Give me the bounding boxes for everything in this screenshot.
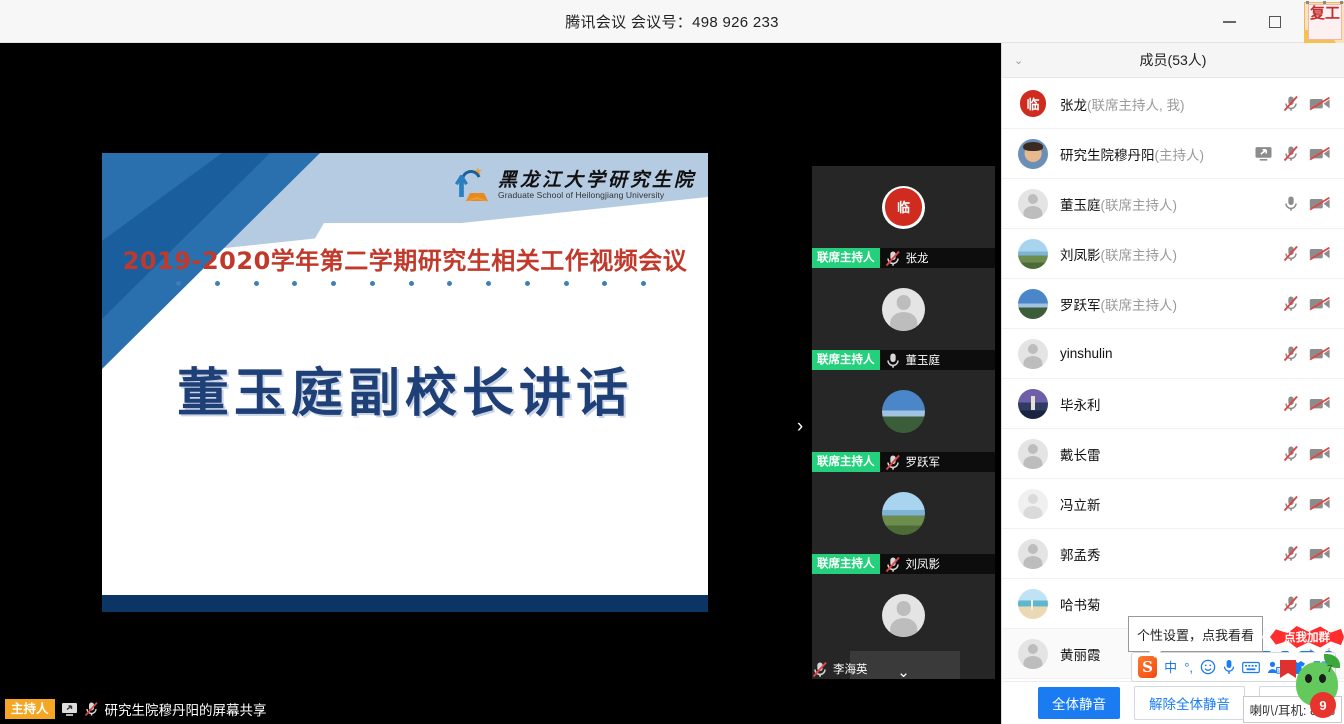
- participant-name: 张龙(联席主持人, 我): [1060, 94, 1283, 114]
- title-bar: 腾讯会议 会议号：498 926 233 ✕ 复工: [0, 0, 1344, 43]
- mascot-number: 7: [1327, 664, 1333, 675]
- avatar-landscape: [1018, 289, 1048, 319]
- mute-all-button[interactable]: 全体静音: [1038, 687, 1120, 719]
- mic-muted-icon[interactable]: [1283, 245, 1299, 262]
- minimize-icon: [1223, 21, 1236, 23]
- mic-muted-icon: [885, 454, 901, 471]
- video-tile-bar: 联席主持人刘凤影: [812, 554, 995, 574]
- avatar-seal: 临: [882, 186, 925, 229]
- participant-role: (联席主持人, 我): [1087, 98, 1185, 113]
- sogou-logo-icon[interactable]: S: [1138, 656, 1157, 678]
- mic-muted-icon: [84, 701, 99, 717]
- avatar-default: [882, 594, 925, 637]
- participant-icons: [1283, 495, 1331, 512]
- avatar-default: [1018, 339, 1048, 369]
- share-status-text: 研究生院穆丹阳的屏幕共享: [105, 699, 267, 719]
- video-tile-name: 罗跃军: [906, 454, 941, 470]
- slide-dot: [215, 281, 220, 286]
- avatar-default: [1018, 539, 1048, 569]
- slide-dot: [292, 281, 297, 286]
- maximize-button[interactable]: [1252, 0, 1298, 43]
- cohost-badge: 联席主持人: [812, 350, 880, 370]
- participant-name: 毕永利: [1060, 394, 1283, 414]
- host-badge: 主持人: [5, 699, 55, 719]
- shared-screen-stage: ★ 黑龙江大学研究生院 Graduate School of Heilongji…: [0, 43, 1001, 724]
- maximize-icon: [1269, 16, 1281, 28]
- camera-off-icon[interactable]: [1309, 96, 1331, 111]
- logo-mark-icon: ★: [452, 165, 492, 205]
- slide-footer-bar: [102, 595, 708, 612]
- mascot-eye-left: [1305, 674, 1312, 683]
- punctuation-icon[interactable]: °,: [1184, 661, 1193, 674]
- avatar-landscape: [1018, 239, 1048, 269]
- unmute-all-button[interactable]: 解除全体静音: [1134, 686, 1245, 720]
- avatar-default: [1018, 189, 1048, 219]
- ime-mascot-icon[interactable]: 7 9: [1290, 652, 1342, 714]
- video-tile[interactable]: 联席主持人董玉庭: [812, 268, 995, 370]
- chinese-mode-icon[interactable]: 中: [1164, 661, 1177, 674]
- mic-muted-icon: [885, 556, 901, 573]
- participant-row[interactable]: 戴长雷: [1002, 429, 1344, 479]
- mic-muted-icon: [885, 250, 901, 267]
- video-tile[interactable]: 联席主持人罗跃军: [812, 370, 995, 472]
- soft-keyboard-icon[interactable]: [1242, 661, 1260, 674]
- participant-name: 罗跃军(联席主持人): [1060, 294, 1283, 314]
- minimize-button[interactable]: [1206, 0, 1252, 43]
- screen-share-icon: [61, 702, 78, 717]
- mascot-eye-right: [1319, 674, 1326, 683]
- camera-off-icon[interactable]: [1309, 396, 1331, 411]
- avatar-seal: 临: [1018, 89, 1048, 119]
- close-button[interactable]: ✕: [1298, 0, 1344, 43]
- video-thumbnail-strip: 临联席主持人张龙联席主持人董玉庭联席主持人罗跃军联席主持人刘凤影李海英⌄: [812, 166, 995, 683]
- avatar-default: [1018, 439, 1048, 469]
- participant-row[interactable]: 罗跃军(联席主持人): [1002, 279, 1344, 329]
- close-icon: ✕: [1314, 13, 1328, 30]
- university-logo: ★ 黑龙江大学研究生院 Graduate School of Heilongji…: [452, 165, 696, 205]
- participant-name: 戴长雷: [1060, 444, 1283, 464]
- slide-dot: [486, 281, 491, 286]
- cohost-badge: 联席主持人: [812, 452, 880, 472]
- slide-dot: [409, 281, 414, 286]
- participant-icons: [1283, 95, 1331, 112]
- mic-muted-icon[interactable]: [1283, 545, 1299, 562]
- mic-icon: [885, 352, 901, 369]
- camera-off-icon[interactable]: [1309, 196, 1331, 211]
- participant-row[interactable]: 刘凤影(联席主持人): [1002, 229, 1344, 279]
- participants-list[interactable]: 临张龙(联席主持人, 我)研究生院穆丹阳(主持人)董玉庭(联席主持人)刘凤影(联…: [1002, 79, 1344, 687]
- participant-name: 哈书菊: [1060, 594, 1283, 614]
- participant-row[interactable]: 临张龙(联席主持人, 我): [1002, 79, 1344, 129]
- participant-row[interactable]: 毕永利: [1002, 379, 1344, 429]
- camera-off-icon[interactable]: [1309, 596, 1331, 611]
- slide-dot: [641, 281, 646, 286]
- slide-dot: [564, 281, 569, 286]
- participant-row[interactable]: yinshulin: [1002, 329, 1344, 379]
- camera-off-icon[interactable]: [1309, 496, 1331, 511]
- avatar-landscape: [882, 492, 925, 535]
- video-tile-bar: 联席主持人董玉庭: [812, 350, 995, 370]
- video-tile-avatar: 临: [812, 166, 995, 248]
- participant-icons: [1283, 245, 1331, 262]
- participant-name: 郭孟秀: [1060, 544, 1283, 564]
- participant-row[interactable]: 郭孟秀: [1002, 529, 1344, 579]
- video-tile-bar: 联席主持人罗跃军: [812, 452, 995, 472]
- video-tile-bar: 联席主持人张龙: [812, 248, 995, 268]
- participant-row[interactable]: 董玉庭(联席主持人): [1002, 179, 1344, 229]
- mic-muted-icon[interactable]: [1283, 595, 1299, 612]
- participant-name: 冯立新: [1060, 494, 1283, 514]
- avatar-photo: [1018, 139, 1048, 169]
- logo-text-en: Graduate School of Heilongjiang Universi…: [498, 190, 696, 201]
- video-tile-name: 张龙: [906, 250, 929, 266]
- next-slide-arrow-icon[interactable]: ›: [786, 413, 814, 441]
- slide-title: 2019-2020学年第二学期研究生相关工作视频会议: [102, 241, 708, 276]
- camera-off-icon[interactable]: [1309, 546, 1331, 561]
- participant-icons: [1283, 545, 1331, 562]
- avatar-default: [1018, 639, 1048, 669]
- participant-role: (联席主持人): [1101, 198, 1178, 213]
- mascot-badge: 9: [1310, 692, 1336, 718]
- cohost-badge: 联席主持人: [812, 248, 880, 268]
- mic-muted-icon[interactable]: [1283, 95, 1299, 112]
- camera-off-icon[interactable]: [1309, 146, 1331, 161]
- participants-count-title: 成员(53人): [1140, 50, 1207, 70]
- avatar-landscape: [1018, 389, 1048, 419]
- video-tile-avatar: [812, 370, 995, 452]
- mic-muted-icon[interactable]: [1283, 445, 1299, 462]
- slide-dot: [370, 281, 375, 286]
- slide-dot: [331, 281, 336, 286]
- avatar-default: [882, 288, 925, 331]
- participant-name: 刘凤影(联席主持人): [1060, 244, 1283, 264]
- participant-role: (主持人): [1155, 148, 1205, 163]
- ime-settings-tooltip-text: 个性设置，点我看看: [1137, 625, 1254, 644]
- ime-settings-tooltip: 个性设置，点我看看: [1128, 616, 1263, 652]
- participant-name: yinshulin: [1060, 346, 1283, 361]
- video-tile[interactable]: 临联席主持人张龙: [812, 166, 995, 268]
- avatar-landscape: [1018, 589, 1048, 619]
- slide-dot: [602, 281, 607, 286]
- voice-input-icon[interactable]: [1223, 659, 1235, 675]
- participant-icons: [1283, 395, 1331, 412]
- screen-share-icon[interactable]: [1254, 146, 1273, 162]
- participant-row[interactable]: 研究生院穆丹阳(主持人): [1002, 129, 1344, 179]
- video-tile-name: 刘凤影: [906, 556, 941, 572]
- video-tile-name: 董玉庭: [906, 352, 941, 368]
- mic-muted-icon[interactable]: [1283, 495, 1299, 512]
- mic-muted-icon[interactable]: [1283, 145, 1299, 162]
- slide-dot-row: [176, 281, 646, 286]
- slide-dot: [447, 281, 452, 286]
- window-controls: ✕: [1206, 0, 1344, 43]
- mic-muted-icon[interactable]: [1283, 345, 1299, 362]
- participants-panel-header: ⌄ 成员(53人): [1002, 43, 1344, 78]
- camera-off-icon[interactable]: [1309, 296, 1331, 311]
- video-tile-avatar: [812, 472, 995, 554]
- tooltip-pointer: [1148, 650, 1162, 658]
- mic-muted-icon[interactable]: [1283, 395, 1299, 412]
- participant-role: (联席主持人): [1101, 298, 1178, 313]
- slide-dot: [525, 281, 530, 286]
- avatar-default: [1018, 489, 1048, 519]
- video-tile-avatar: [812, 268, 995, 350]
- participant-icons: [1283, 295, 1331, 312]
- camera-off-icon[interactable]: [1309, 346, 1331, 361]
- slide-main-text: 董玉庭副校长讲话: [102, 351, 708, 426]
- slide-dot: [254, 281, 259, 286]
- avatar-landscape: [882, 390, 925, 433]
- video-tile[interactable]: 联席主持人刘凤影: [812, 472, 995, 574]
- participant-icons: [1283, 595, 1331, 612]
- participant-icons: [1283, 445, 1331, 462]
- mic-muted-icon[interactable]: [1283, 295, 1299, 312]
- logo-text-cn: 黑龙江大学研究生院: [498, 170, 696, 190]
- camera-off-icon[interactable]: [1309, 446, 1331, 461]
- video-tile-avatar: [812, 574, 995, 656]
- participant-role: (联席主持人): [1101, 248, 1178, 263]
- participant-row[interactable]: 冯立新: [1002, 479, 1344, 529]
- presentation-slide: ★ 黑龙江大学研究生院 Graduate School of Heilongji…: [102, 153, 708, 612]
- window-title: 腾讯会议 会议号：498 926 233: [565, 11, 779, 32]
- participant-icons: [1283, 195, 1331, 212]
- emoji-icon[interactable]: [1200, 659, 1216, 675]
- mic-icon[interactable]: [1283, 195, 1299, 212]
- chevron-down-icon[interactable]: ⌄: [1014, 54, 1023, 67]
- camera-off-icon[interactable]: [1309, 246, 1331, 261]
- participant-name: 研究生院穆丹阳(主持人): [1060, 144, 1254, 164]
- tencent-meeting-window: 腾讯会议 会议号：498 926 233 ✕ 复工: [0, 0, 1344, 724]
- participant-icons: [1283, 345, 1331, 362]
- cohost-badge: 联席主持人: [812, 554, 880, 574]
- participant-name: 董玉庭(联席主持人): [1060, 194, 1283, 214]
- share-status-bar: 主持人 研究生院穆丹阳的屏幕共享: [0, 694, 1001, 724]
- slide-dot: [176, 281, 181, 286]
- participant-icons: [1254, 145, 1331, 162]
- chevron-down-icon[interactable]: ⌄: [812, 663, 995, 681]
